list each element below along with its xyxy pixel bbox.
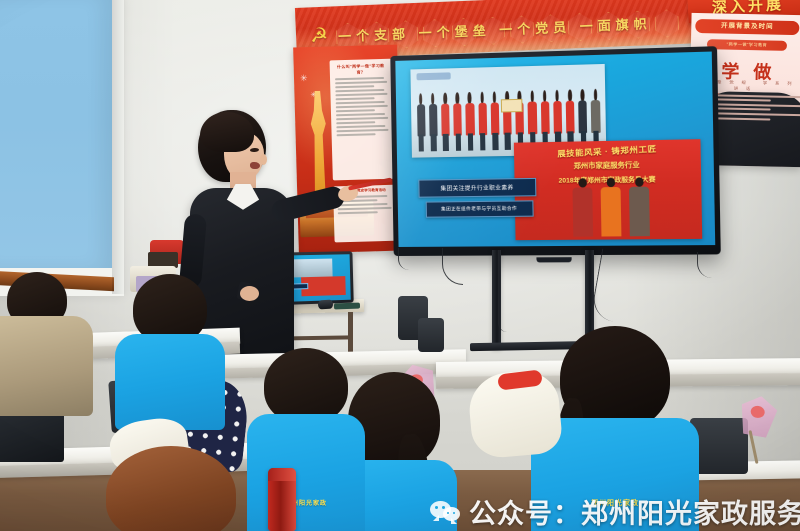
photo-person [539,87,552,150]
poster-left-card-title: 什么叫"两学一做"学习教育？ [334,63,388,77]
thermos-cap [268,468,296,481]
photo-person [464,89,476,151]
photo-person [452,89,464,151]
award-person [626,178,652,236]
attendee-red-hair-front [86,446,256,531]
wechat-watermark: 公众号：郑州阳光家政服务公司 [430,492,800,531]
photo-person [501,88,514,150]
photo-person [564,87,577,150]
watermark-text: 公众号：郑州阳光家政服务公司 [469,492,800,531]
poster-left-body-lines [334,77,390,136]
dove-icon: ✳ [300,73,308,84]
red-thermos [268,468,296,531]
chair [418,318,444,352]
slide-bullet-box-1: 集团关注提升行业职业素养 [419,178,536,198]
tv-stand-post [585,250,594,338]
presenter-ear [260,154,267,165]
attendee-blue-vest-left [116,274,224,424]
presenter-hair-front [200,112,254,152]
mouse-pad [334,303,360,310]
poster-right-band-title: 开展背景及时间 [695,19,799,35]
presenter-left-hand [240,286,259,301]
tv-screen[interactable]: 展技能风采 · 铸郑州工匠 郑州市家庭服务行业 2018年度郑州市家政服务员大赛… [395,52,715,247]
photo-person [551,87,564,150]
wall-television[interactable]: 展技能风采 · 铸郑州工匠 郑州市家庭服务行业 2018年度郑州市家政服务员大赛… [390,46,721,256]
attendee-head [264,348,348,424]
wechat-icon [430,499,460,524]
award-person [598,178,624,236]
slide-bullet-box-2: 集团正在组件老带与学员互助合作 [425,201,533,218]
award-person [570,179,596,237]
photo-person [439,90,451,152]
photo-person [476,89,488,151]
attendee-beige-coat [0,316,93,416]
photo-person [577,86,590,149]
award-photo-people [570,178,653,237]
window-blind[interactable] [0,0,112,270]
attendee-blue-uniform-vest [115,334,225,430]
attendee-blue-uniform-vest [247,414,365,531]
wechat-eye-dot [435,506,438,509]
tv-bezel: 展技能风采 · 铸郑州工匠 郑州市家庭服务行业 2018年度郑州市家政服务员大赛… [390,46,721,256]
photo-scene: ☭ 一个支部 一个堡垒 一个党员 一面旗帜 ✳ ✳ 什么叫"两学一做"学习教育？… [0,0,800,531]
attendee-head [106,446,236,531]
wall-corner-edge [112,0,126,294]
presenter-mouth [250,162,260,169]
wechat-eye-dot [442,506,445,509]
wechat-bubble-small [443,507,460,521]
photo-person [415,90,427,152]
photo-person [589,86,602,149]
wechat-eye-dot [447,512,449,514]
photo-person [427,90,439,152]
flower-bud-icon [750,405,766,419]
tv-cable [498,250,507,332]
photo-person [514,88,527,150]
computer-mouse[interactable] [318,299,334,309]
poster-right-pill-1: "两学一做"学习教育 [707,39,787,51]
poster-left-text-card: 什么叫"两学一做"学习教育？ [330,59,395,181]
attendee-blue-vest-center: 郑州阳光家政 [246,348,366,531]
slide-award-photo: 展技能风采 · 铸郑州工匠 郑州市家庭服务行业 2018年度郑州市家政服务员大赛 [514,139,702,241]
certificate-icon [501,99,523,113]
photo-person [489,89,502,151]
party-poster-left: ✳ ✳ 什么叫"两学一做"学习教育？ 我院开展党史学习教育活动 [293,45,403,254]
wechat-eye-dot [453,512,455,514]
photo-person [526,88,539,150]
attendee-front-left-coat [0,272,92,412]
photo-logo-icon [416,72,450,80]
tv-brand-logo [536,257,571,262]
